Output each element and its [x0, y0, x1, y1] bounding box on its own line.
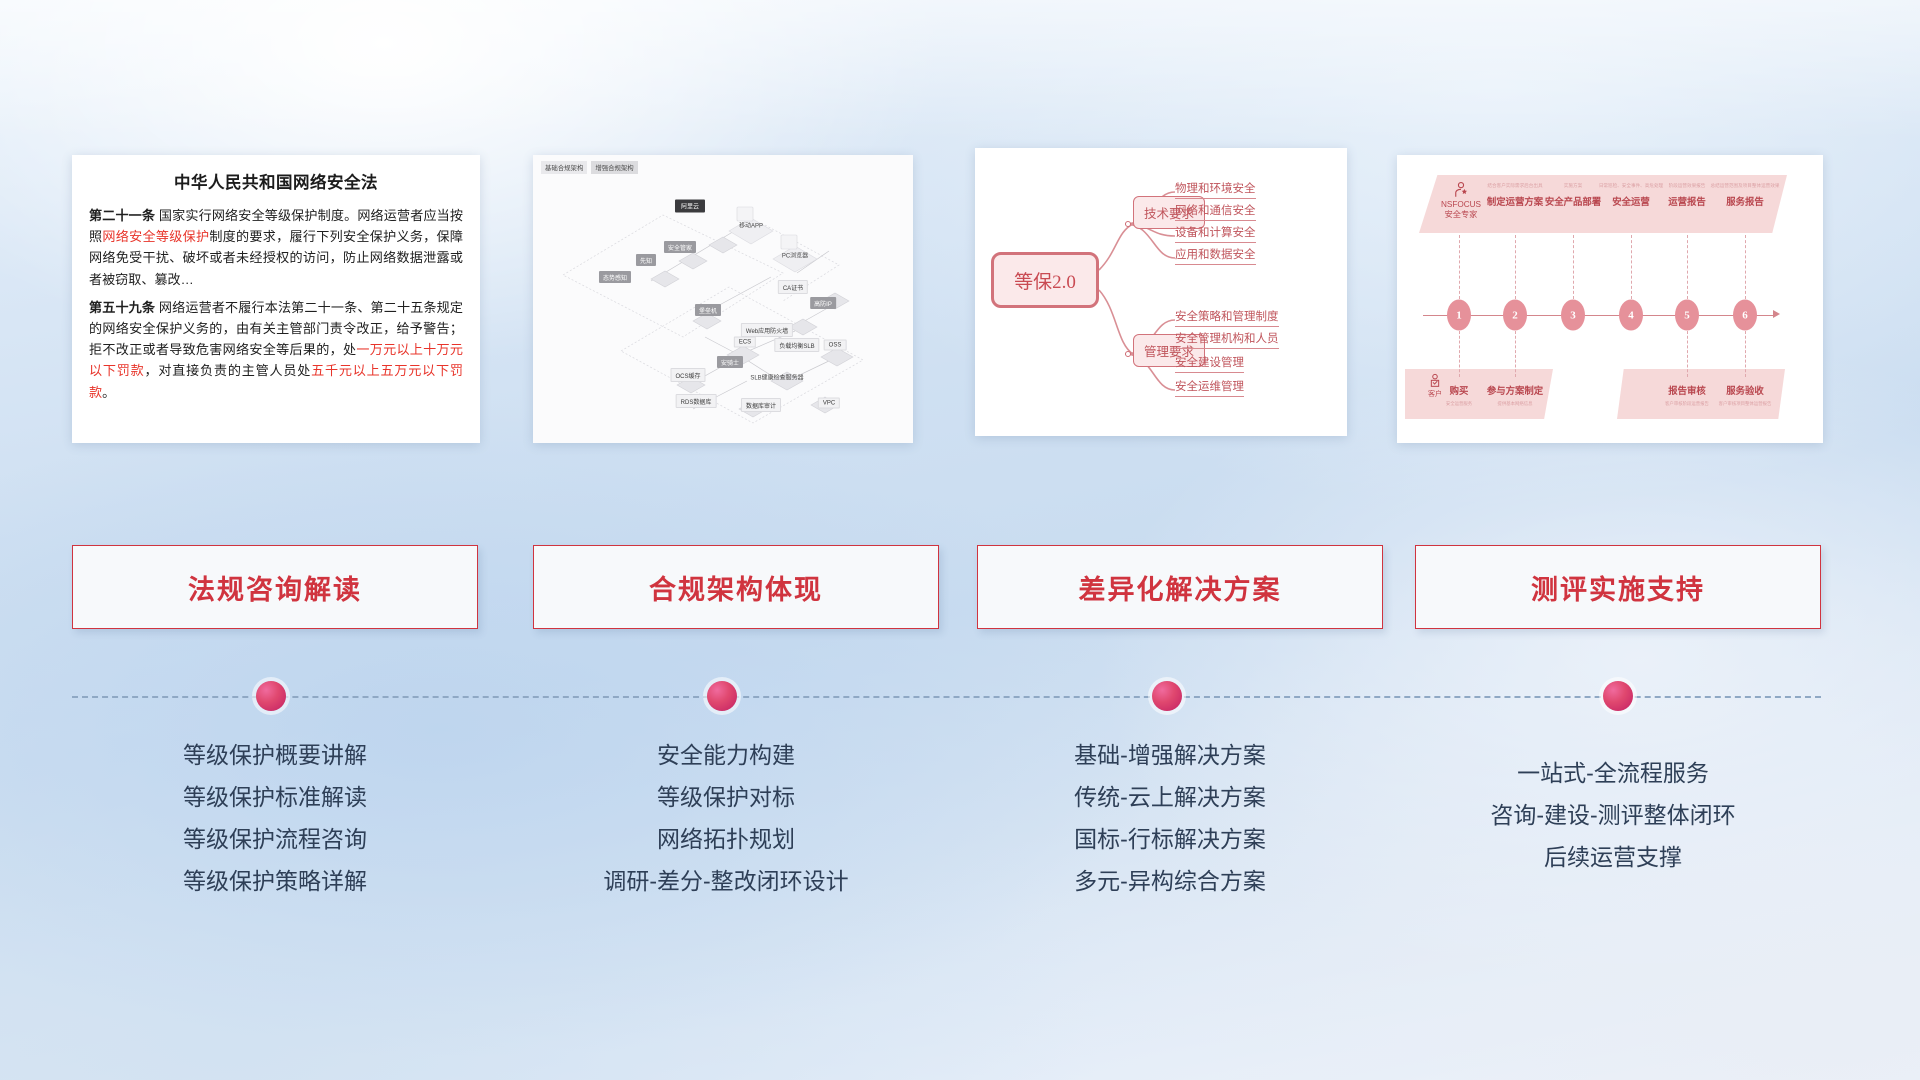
nsfocus-dash-4 [1631, 235, 1632, 299]
timeline-node-3[interactable] [1152, 681, 1182, 711]
mindmap-leaf-policy-system: 安全策略和管理制度 [1175, 308, 1279, 327]
list-item: 等级保护对标 [603, 777, 848, 819]
arch-node-slb-health-check: SLB健康检查服务器 [750, 373, 803, 382]
nsfocus-top-step-4: 日常巡检、安全事件、高危处理 安全运营 [1599, 183, 1663, 208]
list-item: 基础-增强解决方案 [1074, 735, 1266, 777]
arch-node-waf: Web应用防火墙 [741, 323, 793, 337]
law-article-21: 第二十一条 国家实行网络安全等级保护制度。网络运营者应当按照网络安全等级保护制度… [89, 205, 463, 290]
mindmap-collapse-dot-technical[interactable] [1125, 221, 1131, 227]
mindmap-leaf-operation: 安全运维管理 [1175, 378, 1244, 397]
nsfocus-dash-b5 [1687, 331, 1688, 377]
timeline-rail [0, 667, 1920, 727]
image-card-row: 中华人民共和国网络安全法 第二十一条 国家实行网络安全等级保护制度。网络运营者应… [0, 0, 1920, 400]
arch-node-mobile-app: 移动APP [739, 221, 763, 230]
card-nsfocus-timeline: NSFOCUS 安全专家 结合客户实际需求后台出具 制定运营方案 实施方案 安全… [1397, 155, 1823, 443]
nsfocus-expert-role: 安全专家 [1433, 210, 1489, 220]
nsfocus-step-node-3: 3 [1561, 300, 1585, 331]
nsfocus-step-node-4: 4 [1619, 300, 1643, 331]
nsfocus-bottom-step-2: 参与方案制定 [1487, 383, 1543, 397]
card-cybersecurity-law: 中华人民共和国网络安全法 第二十一条 国家实行网络安全等级保护制度。网络运营者应… [72, 155, 480, 443]
pillar-title-3: 差异化解决方案 [1079, 568, 1282, 607]
detail-column-3: 基础-增强解决方案 传统-云上解决方案 国标-行标解决方案 多元-异构综合方案 [1074, 735, 1266, 902]
arch-node-situation-awareness: 态势感知 [599, 271, 631, 283]
architecture-connectors [533, 155, 913, 443]
nsfocus-axis-line [1423, 315, 1775, 316]
law-article-59-text-2: ，对直接负责的主管人员处 [145, 363, 312, 378]
card-mindmap-dengbao: 等保2.0 技术要求 物理和环境安全 网络和通信安全 设备和计算安全 应用和数据… [975, 148, 1347, 436]
law-article-21-highlight: 网络安全等级保护 [102, 229, 209, 244]
nsfocus-dash-3 [1573, 235, 1574, 299]
arch-node-security-butler: 安全管家 [664, 241, 696, 253]
arch-node-ca-certificate: CA证书 [778, 280, 808, 294]
mindmap-collapse-dot-management[interactable] [1125, 351, 1131, 357]
arch-node-anti-ddos: 高防IP [810, 297, 836, 309]
card-cloud-architecture: 基础合规架构 增强合规架构 [533, 155, 913, 443]
arch-node-db-audit: 数据库审计 [741, 398, 781, 412]
list-item: 后续运营支撑 [1490, 837, 1735, 879]
nsfocus-top-step-6: 总结运营范围及项目整体运营效果 服务报告 [1711, 183, 1780, 208]
mindmap-leaf-org-personnel: 安全管理机构和人员 [1175, 330, 1279, 349]
mindmap-diagram: 等保2.0 技术要求 物理和环境安全 网络和通信安全 设备和计算安全 应用和数据… [975, 148, 1347, 436]
timeline-node-4[interactable] [1603, 681, 1633, 711]
mindmap-leaf-construction: 安全建设管理 [1175, 354, 1244, 373]
mindmap-leaf-device-compute: 设备和计算安全 [1175, 224, 1256, 243]
nsfocus-step-node-5: 5 [1675, 300, 1699, 331]
nsfocus-dash-b6 [1745, 331, 1746, 377]
list-item: 咨询-建设-测评整体闭环 [1490, 795, 1735, 837]
nsfocus-dash-b2 [1515, 331, 1516, 377]
customer-person-icon [1427, 373, 1443, 389]
list-item: 国标-行标解决方案 [1074, 819, 1266, 861]
nsfocus-top-step-5: 阶段运营效果报告 运营报告 [1668, 183, 1706, 208]
arch-node-ocs-cache: OCS缓存 [670, 368, 705, 382]
arch-node-cloud: 阿里云 [675, 200, 705, 213]
arch-node-vpc: VPC [818, 398, 840, 409]
list-item: 安全能力构建 [603, 735, 848, 777]
pillar-box-regulation-consulting[interactable]: 法规咨询解读 [72, 545, 478, 629]
expert-person-icon [1452, 181, 1470, 199]
detail-column-4: 一站式-全流程服务 咨询-建设-测评整体闭环 后续运营支撑 [1490, 753, 1735, 879]
arch-node-oss: OSS [824, 340, 847, 351]
arch-node-pc-browser: PC浏览器 [782, 251, 808, 260]
pillar-box-assessment-support[interactable]: 测评实施支持 [1415, 545, 1821, 629]
nsfocus-dash-6 [1745, 235, 1746, 299]
nsfocus-dash-2 [1515, 235, 1516, 299]
nsfocus-bottom-sub-6: 客户审核项目整体运营报告 [1719, 401, 1772, 407]
slide-stage: 中华人民共和国网络安全法 第二十一条 国家实行网络安全等级保护制度。网络运营者应… [0, 0, 1920, 1080]
list-item: 传统-云上解决方案 [1074, 777, 1266, 819]
pillar-box-differentiated-solution[interactable]: 差异化解决方案 [977, 545, 1383, 629]
law-article-21-label: 第二十一条 [89, 208, 155, 223]
mindmap-root-node: 等保2.0 [991, 252, 1099, 308]
law-article-59: 第五十九条 网络运营者不履行本法第二十一条、第二十五条规定的网络安全保护义务的，… [89, 297, 463, 403]
nsfocus-bottom-sub-1: 安全运营服务 [1446, 401, 1472, 407]
arch-node-bastion-host: 堡垒机 [695, 304, 721, 316]
law-title: 中华人民共和国网络安全法 [89, 169, 463, 193]
nsfocus-bottom-sub-2: 提供基本网络信息 [1497, 401, 1532, 407]
arch-node-slb: 负载均衡SLB [774, 338, 819, 352]
detail-column-1: 等级保护概要讲解 等级保护标准解读 等级保护流程咨询 等级保护策略详解 [183, 735, 367, 902]
timeline-dashed-line [72, 696, 1821, 698]
law-article-59-text-3: 。 [102, 385, 115, 400]
nsfocus-step-node-6: 6 [1733, 300, 1757, 331]
list-item: 等级保护标准解读 [183, 777, 367, 819]
nsfocus-bottom-step-5: 报告审核 [1668, 383, 1706, 397]
detail-column-2: 安全能力构建 等级保护对标 网络拓扑规划 调研-差分-整改闭环设计 [603, 735, 848, 902]
pillar-title-1: 法规咨询解读 [188, 568, 362, 607]
law-article-59-label: 第五十九条 [89, 300, 155, 315]
nsfocus-step-node-1: 1 [1447, 300, 1471, 331]
nsfocus-bottom-step-6: 服务验收 [1726, 383, 1764, 397]
list-item: 调研-差分-整改闭环设计 [603, 861, 848, 903]
nsfocus-dash-b1 [1459, 331, 1460, 377]
timeline-node-1[interactable] [256, 681, 286, 711]
nsfocus-diagram: NSFOCUS 安全专家 结合客户实际需求后台出具 制定运营方案 实施方案 安全… [1397, 155, 1823, 443]
architecture-diagram: 基础合规架构 增强合规架构 [533, 155, 913, 443]
nsfocus-brand: NSFOCUS [1433, 200, 1489, 210]
nsfocus-step-node-2: 2 [1503, 300, 1527, 331]
mindmap-leaf-physical-env: 物理和环境安全 [1175, 180, 1256, 199]
detail-column-row: 等级保护概要讲解 等级保护标准解读 等级保护流程咨询 等级保护策略详解 安全能力… [0, 735, 1920, 995]
pillar-title-2: 合规架构体现 [649, 568, 823, 607]
arch-node-ecs: ECS [734, 337, 756, 348]
list-item: 多元-异构综合方案 [1074, 861, 1266, 903]
nsfocus-axis-arrow [1773, 310, 1780, 318]
mindmap-leaf-network-comm: 网络和通信安全 [1175, 202, 1256, 221]
timeline-node-2[interactable] [707, 681, 737, 711]
list-item: 等级保护概要讲解 [183, 735, 367, 777]
list-item: 等级保护流程咨询 [183, 819, 367, 861]
pillar-title-row: 法规咨询解读 合规架构体现 差异化解决方案 测评实施支持 [0, 545, 1920, 645]
arch-node-anqishi: 安骑士 [717, 356, 743, 368]
pillar-box-compliance-architecture[interactable]: 合规架构体现 [533, 545, 939, 629]
nsfocus-dash-1 [1459, 235, 1460, 299]
nsfocus-bottom-sub-5: 客户审核阶段运营报告 [1665, 401, 1709, 407]
list-item: 网络拓扑规划 [603, 819, 848, 861]
list-item: 一站式-全流程服务 [1490, 753, 1735, 795]
law-document: 中华人民共和国网络安全法 第二十一条 国家实行网络安全等级保护制度。网络运营者应… [72, 155, 480, 420]
nsfocus-top-step-2: 结合客户实际需求后台出具 制定运营方案 [1487, 183, 1543, 208]
arch-node-xianzhi: 先知 [636, 254, 656, 266]
list-item: 等级保护策略详解 [183, 861, 367, 903]
nsfocus-top-step-3: 实施方案 安全产品部署 [1545, 183, 1601, 208]
mindmap-leaf-app-data: 应用和数据安全 [1175, 246, 1256, 265]
nsfocus-expert-block: NSFOCUS 安全专家 [1433, 181, 1489, 221]
nsfocus-bottom-step-1: 购买 [1450, 383, 1469, 397]
nsfocus-dash-5 [1687, 235, 1688, 299]
pillar-title-4: 测评实施支持 [1531, 568, 1705, 607]
arch-node-rds: RDS数据库 [676, 394, 717, 408]
